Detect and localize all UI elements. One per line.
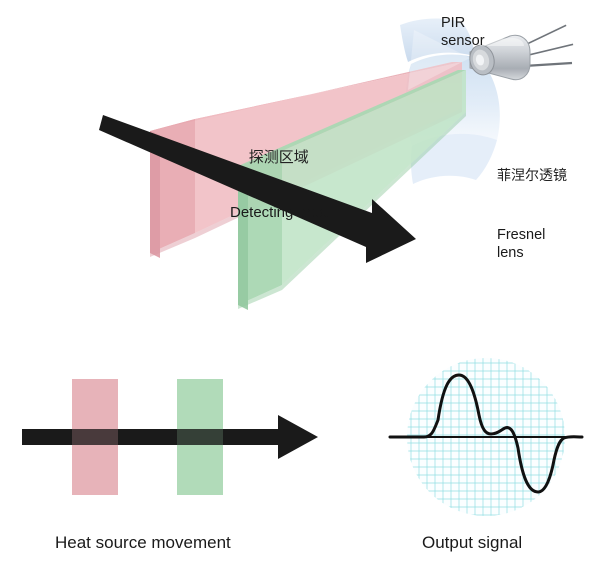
heat-source-movement-group: [22, 379, 318, 495]
label-fresnel-lens-en: Fresnel lens: [497, 226, 567, 262]
label-fresnel-lens: 菲涅尔透镜 Fresnel lens: [497, 127, 567, 302]
label-output-signal: Output signal: [422, 533, 522, 553]
label-detecting-area-cn: 探测区域: [230, 149, 328, 166]
label-fresnel-lens-cn: 菲涅尔透镜: [497, 167, 567, 185]
label-detecting-area-en: Detecting area: [230, 204, 328, 221]
label-detecting-area: 探测区域 Detecting area: [230, 112, 328, 258]
label-pir-sensor: PIR sensor: [441, 14, 485, 50]
movement-arrow: [22, 415, 318, 459]
output-signal-group: [390, 358, 582, 516]
label-heat-source-movement: Heat source movement: [55, 533, 231, 553]
diagram-canvas: 探测区域 Detecting area PIR sensor 菲涅尔透镜 Fre…: [0, 0, 600, 568]
